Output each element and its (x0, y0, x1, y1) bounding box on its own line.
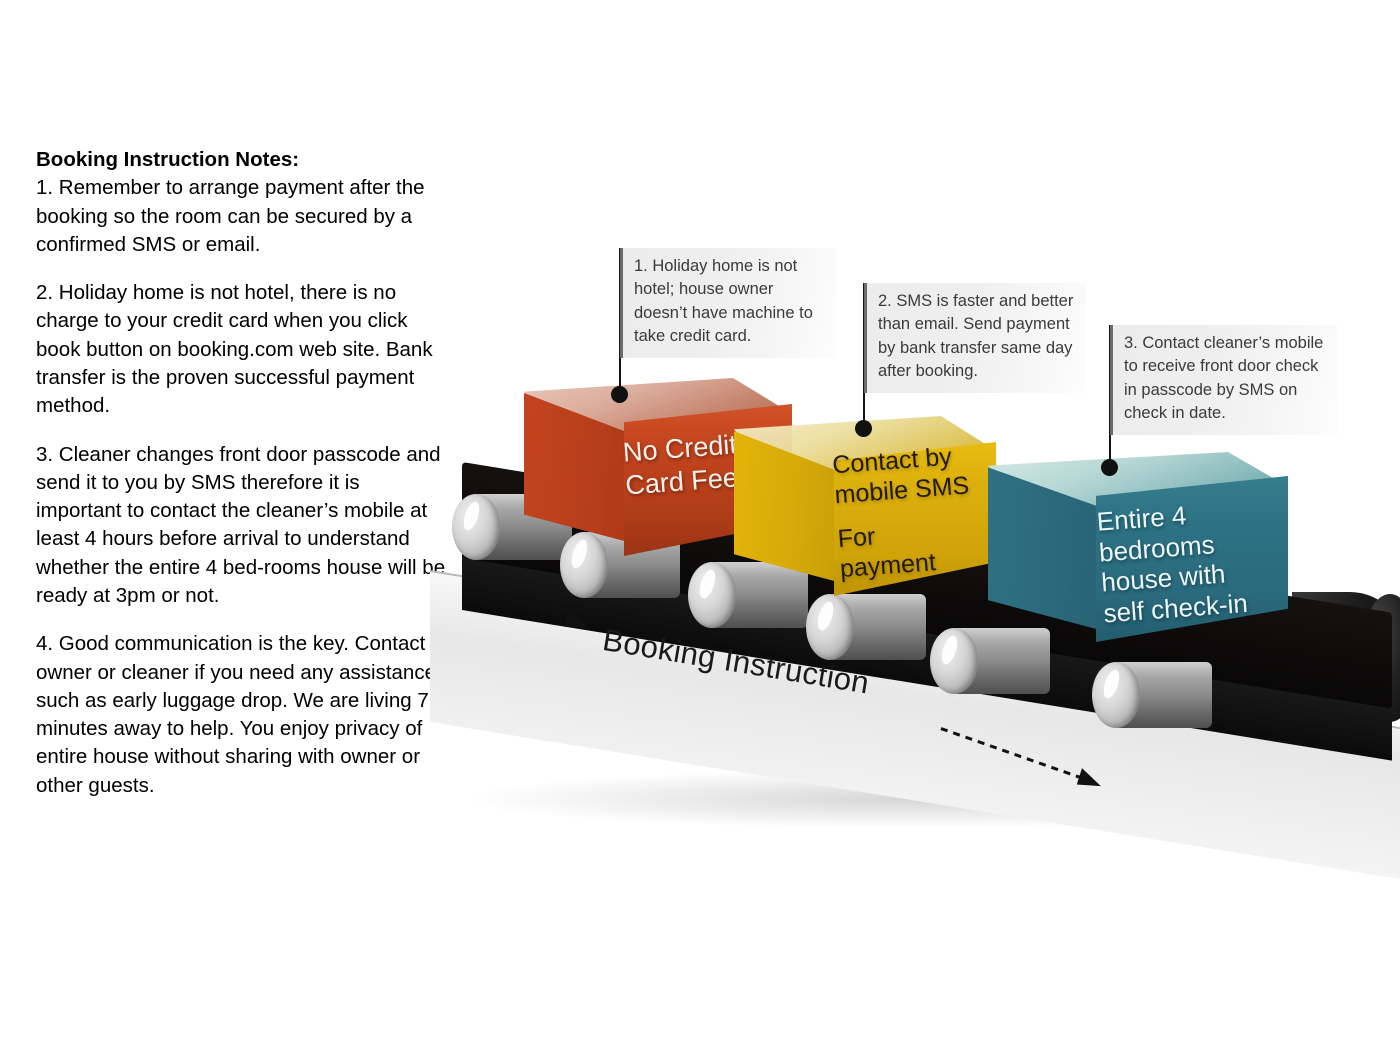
note-paragraph-4: 4. Good communication is the key. Contac… (36, 630, 448, 800)
note-paragraph-2: 2. Holiday home is not hotel, there is n… (36, 279, 448, 420)
box-label: Entire 4 bedrooms house with self check-… (1096, 494, 1285, 630)
callout-note-1: 1. Holiday home is not hotel; house owne… (620, 248, 836, 358)
stage-box-entire-4-bedrooms-house[interactable]: Entire 4 bedrooms house with self check-… (988, 452, 1288, 642)
note-paragraph-3: 3. Cleaner changes front door passcode a… (36, 441, 448, 611)
callout-anchor-dot (611, 386, 628, 403)
stage-box-contact-by-mobile-sms[interactable]: Contact by mobile SMS For payment (734, 416, 996, 594)
box-label: Contact by mobile SMS For payment (831, 438, 1010, 584)
callout-note-2: 2. SMS is faster and better than email. … (864, 283, 1086, 393)
callout-anchor-dot (855, 420, 872, 437)
callout-note-3: 3. Contact cleaner’s mobile to receive f… (1110, 325, 1338, 435)
note-paragraph-1: 1. Remember to arrange payment after the… (36, 174, 448, 259)
booking-notes-panel: Booking Instruction Notes: 1. Remember t… (36, 146, 448, 800)
conveyor-roller (806, 594, 926, 660)
conveyor-roller (1092, 662, 1212, 728)
diagram-canvas: Booking Instruction Notes: 1. Remember t… (0, 0, 1400, 1050)
notes-title: Booking Instruction Notes: (36, 146, 448, 174)
callout-anchor-dot (1101, 459, 1118, 476)
